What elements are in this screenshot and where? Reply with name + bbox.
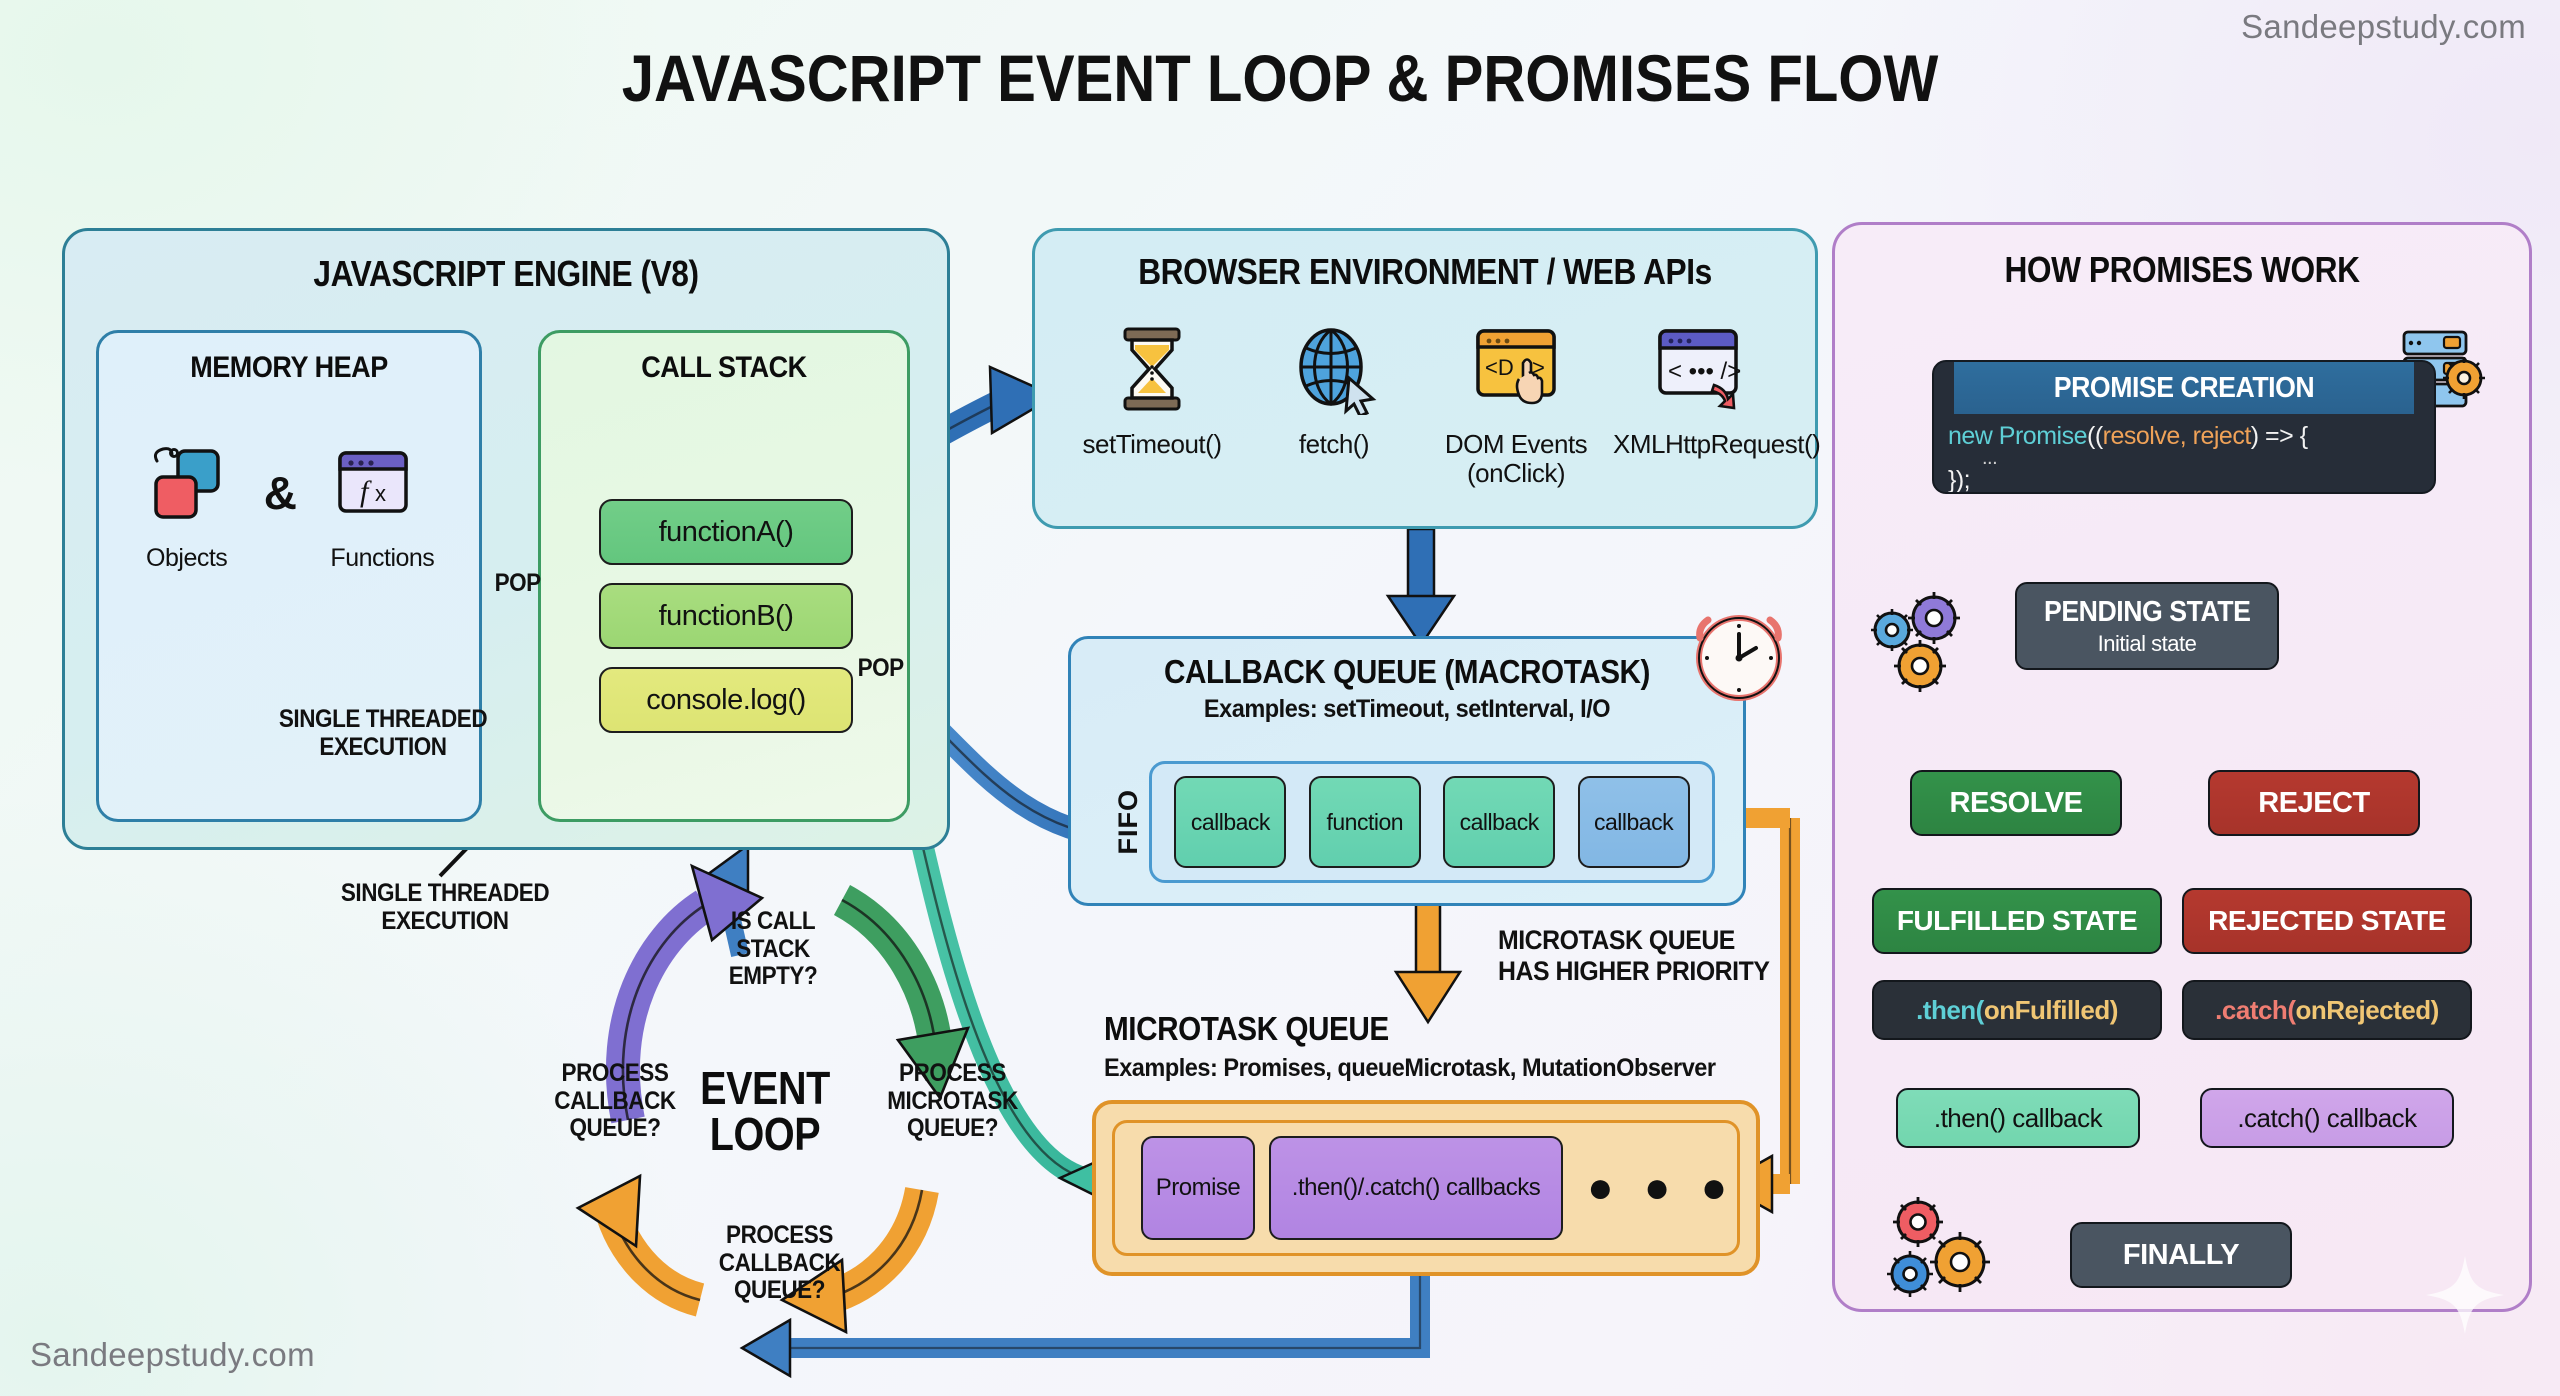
microtask-queue-box: Promise .then()/.catch() callbacks ● ● ● <box>1092 1100 1760 1276</box>
browser-environment-title: BROWSER ENVIRONMENT / WEB APIs <box>1082 251 1768 293</box>
globe-cursor-icon <box>1291 323 1377 415</box>
resolve-box[interactable]: RESOLVE <box>1910 770 2122 836</box>
svg-text:<D: <D <box>1485 355 1514 380</box>
code-close-arrow: ) => { <box>2251 422 2308 450</box>
microtask-queue-ellipsis: ● ● ● <box>1587 1177 1736 1199</box>
microtask-queue-title: MICROTASK QUEUE <box>1104 1010 1389 1048</box>
call-stack-box: CALL STACK functionA() functionB() conso… <box>538 330 910 822</box>
alarm-clock-icon <box>1684 600 1794 710</box>
web-api-dom-events[interactable]: <D > DOM Events (onClick) <box>1431 323 1601 488</box>
memory-heap-title: MEMORY HEAP <box>118 351 460 385</box>
stack-frame[interactable]: functionB() <box>599 583 853 649</box>
callback-queue-box: CALLBACK QUEUE (MACROTASK) Examples: set… <box>1068 636 1746 906</box>
callback-queue-item[interactable]: callback <box>1443 776 1555 868</box>
code-keyword: new Promise <box>1948 422 2087 450</box>
fulfilled-state-box[interactable]: FULFILLED STATE <box>1872 888 2162 954</box>
then-close-paren: ) <box>2110 995 2118 1026</box>
callback-queue-items: callback function callback callback <box>1149 761 1715 883</box>
code-args: resolve, reject <box>2103 422 2251 450</box>
callback-queue-item[interactable]: callback <box>1174 776 1286 868</box>
watermark-bottom: Sandeepstudy.com <box>30 1336 315 1374</box>
svg-text:< ••• />: < ••• /> <box>1668 358 1741 385</box>
microtask-queue-items: Promise .then()/.catch() callbacks ● ● ● <box>1112 1120 1740 1256</box>
then-method-name: .then( <box>1916 995 1984 1026</box>
catch-method-name: .catch( <box>2215 995 2295 1026</box>
pending-state-box[interactable]: PENDING STATE Initial state <box>2015 582 2279 670</box>
svg-text:x: x <box>375 481 386 506</box>
then-arg-name: onFulfilled <box>1984 995 2110 1026</box>
reject-box[interactable]: REJECT <box>2208 770 2420 836</box>
code-open-paren: (( <box>2087 422 2103 450</box>
single-threaded-execution-label-bottom: SINGLE THREADED EXECUTION <box>333 880 558 935</box>
event-loop-step-process-microtask-queue: PROCESS MICROTASK QUEUE? <box>869 1060 1036 1143</box>
objects-squares-icon <box>144 441 230 527</box>
web-api-label: DOM Events (onClick) <box>1431 430 1601 488</box>
microtask-priority-note: MICROTASK QUEUE HAS HIGHER PRIORITY <box>1498 925 1769 987</box>
ampersand-label: & <box>264 466 297 520</box>
gears-cluster-bottom-icon <box>1872 1190 2002 1302</box>
catch-close-paren: ) <box>2431 995 2439 1026</box>
callback-queue-item[interactable]: function <box>1309 776 1421 868</box>
event-loop-label: EVENT LOOP <box>679 1065 851 1157</box>
call-stack-title: CALL STACK <box>559 351 888 385</box>
functions-label: Functions <box>330 544 434 573</box>
code-closing: }); <box>1948 466 2420 494</box>
objects-item: Objects <box>144 441 230 573</box>
functions-item: f x Functions <box>330 441 434 573</box>
hourglass-icon <box>1109 323 1195 415</box>
pop-label-right: POP <box>858 655 904 683</box>
pending-state-title: PENDING STATE <box>2044 596 2250 629</box>
event-loop-step-is-call-stack-empty: IS CALL STACK EMPTY? <box>697 908 850 991</box>
code-ellipsis: ... <box>1982 450 2420 466</box>
stack-frame[interactable]: console.log() <box>599 667 853 733</box>
web-api-label: setTimeout() <box>1067 430 1237 459</box>
pending-state-subtitle: Initial state <box>2098 631 2197 657</box>
microtask-queue-item[interactable]: .then()/.catch() callbacks <box>1269 1136 1563 1240</box>
promise-creation-code: new Promise((resolve, reject) => { ... }… <box>1934 414 2434 494</box>
promise-creation-header: PROMISE CREATION <box>1954 362 2414 414</box>
web-api-label: fetch() <box>1249 430 1419 459</box>
function-window-icon: f x <box>330 441 416 527</box>
microtask-queue-item[interactable]: Promise <box>1141 1136 1255 1240</box>
watermark-top: Sandeepstudy.com <box>2241 8 2526 46</box>
memory-heap-icons: Objects & f x Functions <box>99 441 479 573</box>
event-loop-step-process-callback-queue-bottom: PROCESS CALLBACK QUEUE? <box>701 1222 859 1305</box>
page-title: JAVASCRIPT EVENT LOOP & PROMISES FLOW <box>154 40 2407 116</box>
finally-box[interactable]: FINALLY <box>2070 1222 2292 1288</box>
web-api-settimeout[interactable]: setTimeout() <box>1067 323 1237 459</box>
web-apis-row: setTimeout() fetch() <D > DOM Ev <box>1035 323 1815 488</box>
dom-click-window-icon: <D > <box>1470 323 1562 415</box>
fifo-label: FIFO <box>1113 789 1144 855</box>
pop-label-top: POP <box>495 570 541 598</box>
callback-queue-title: CALLBACK QUEUE (MACROTASK) <box>1105 653 1710 691</box>
web-api-label: XMLHttpRequest() <box>1613 430 1783 459</box>
catch-arg-name: onRejected <box>2295 995 2430 1026</box>
catch-callback-box[interactable]: .catch() callback <box>2200 1088 2454 1148</box>
callback-queue-subtitle: Examples: setTimeout, setInterval, I/O <box>1091 695 1723 724</box>
stack-frame[interactable]: functionA() <box>599 499 853 565</box>
javascript-engine-title: JAVASCRIPT ENGINE (V8) <box>118 253 894 295</box>
microtask-queue-subtitle: Examples: Promises, queueMicrotask, Muta… <box>1104 1054 1716 1083</box>
promise-creation-card: PROMISE CREATION new Promise((resolve, r… <box>1932 360 2436 494</box>
callback-queue-item[interactable]: callback <box>1578 776 1690 868</box>
objects-label: Objects <box>144 544 230 573</box>
gears-cluster-left-icon <box>1860 588 1990 698</box>
event-loop-step-process-callback-queue-left: PROCESS CALLBACK QUEUE? <box>530 1060 701 1143</box>
rejected-state-box[interactable]: REJECTED STATE <box>2182 888 2472 954</box>
sparkle-icon <box>2420 1250 2510 1340</box>
single-threaded-execution-label-top: SINGLE THREADED EXECUTION <box>271 706 496 761</box>
browser-environment-panel: BROWSER ENVIRONMENT / WEB APIs setTimeou… <box>1032 228 1818 529</box>
catch-signature-box[interactable]: .catch(onRejected) <box>2182 980 2472 1040</box>
how-promises-work-title: HOW PROMISES WORK <box>1877 249 2488 291</box>
web-api-fetch[interactable]: fetch() <box>1249 323 1419 459</box>
code-window-icon: < ••• /> <box>1652 323 1744 415</box>
web-api-xhr[interactable]: < ••• /> XMLHttpRequest() <box>1613 323 1783 459</box>
then-callback-box[interactable]: .then() callback <box>1896 1088 2140 1148</box>
then-signature-box[interactable]: .then(onFulfilled) <box>1872 980 2162 1040</box>
